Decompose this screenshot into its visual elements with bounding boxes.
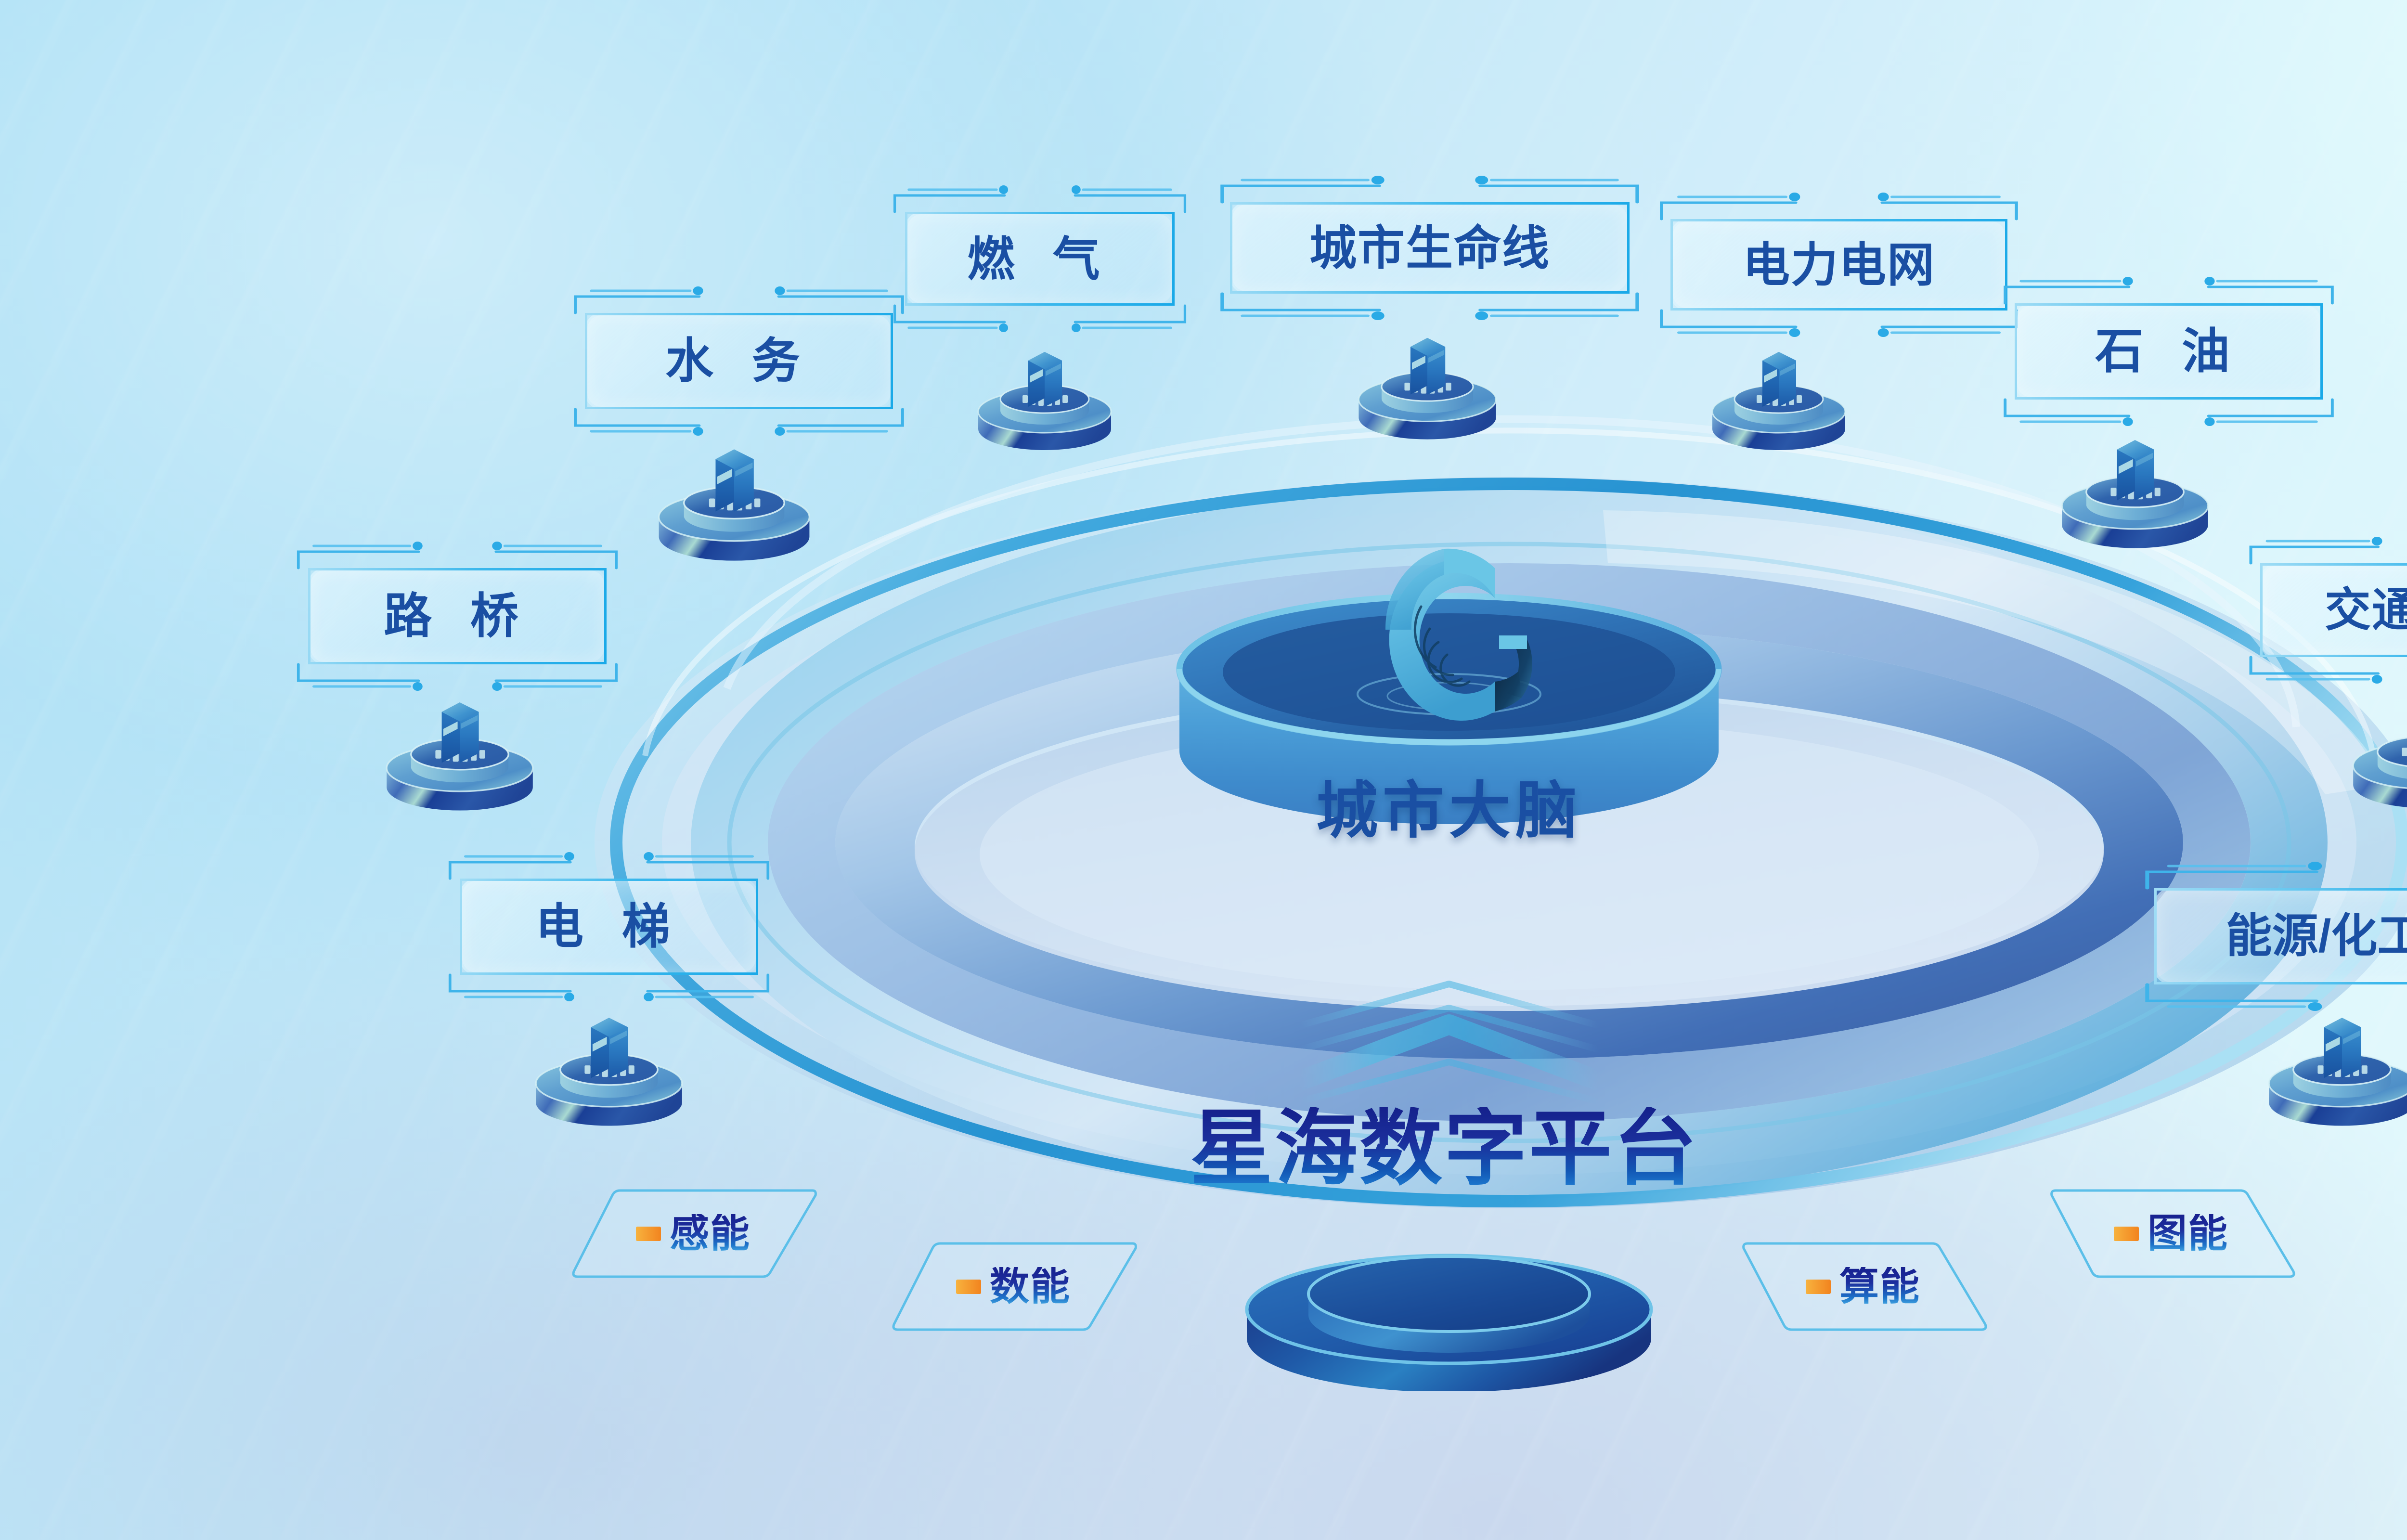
page-title: 星海数字平台 [1126, 1107, 1762, 1190]
pedestal-node-elevator [530, 1001, 688, 1134]
sector-label: 交通运输 [2325, 587, 2407, 634]
pedestal-node-lifeline [1353, 323, 1502, 447]
capability-label: 感能 [670, 1214, 751, 1254]
pedestal-node-bridge [380, 686, 539, 818]
chip-bracket-bottom [443, 972, 775, 1002]
orange-dash-marker [2114, 1227, 2139, 1241]
sector-chip-elevator[interactable]: 电 梯 [460, 879, 758, 975]
chip-bracket-bottom [1654, 308, 2024, 337]
orange-dash-marker [1806, 1280, 1831, 1294]
sector-label: 能源/化工集团 [2226, 913, 2407, 959]
pedestal-node-transport [2347, 684, 2407, 816]
capability-label: 数能 [990, 1267, 1071, 1307]
sector-chip-power[interactable]: 电力电网 [1670, 219, 2007, 311]
chip-bracket-top [889, 185, 1191, 215]
orange-dash-marker [636, 1227, 661, 1241]
capability-tag-sense[interactable]: 感能 [568, 1187, 818, 1281]
upward-chevron-arrows [1271, 977, 1627, 1107]
chip-bracket-top [2244, 536, 2407, 566]
sector-label: 电力电网 [1743, 241, 1935, 288]
sector-chip-gas[interactable]: 燃 气 [905, 212, 1175, 306]
chip-bracket-top [443, 852, 775, 881]
pedestal-node-oil [2056, 424, 2214, 556]
sector-chip-lifeline[interactable]: 城市生命线 [1230, 202, 1630, 294]
hub-title: 城市大脑 [1131, 761, 1767, 850]
sector-chip-energy-chemical[interactable]: 能源/化工集团 [2154, 888, 2407, 984]
infographic-canvas: 城市大脑 星海数字平台 [0, 0, 2407, 1540]
sector-label: 水 务 [665, 337, 813, 385]
chip-bracket-bottom [889, 303, 1191, 333]
chip-bracket-top [569, 286, 909, 316]
base-platform-disc [1237, 1237, 1661, 1391]
chip-bracket-top [1214, 175, 1646, 205]
chip-bracket-top [292, 541, 623, 571]
sector-label: 路 桥 [384, 592, 531, 640]
chip-bracket-bottom [2244, 654, 2407, 684]
chip-bracket-top [2138, 861, 2407, 891]
sector-label: 城市生命线 [1309, 224, 1550, 272]
chip-bracket-bottom [1214, 291, 1646, 321]
chip-bracket-bottom [569, 406, 909, 436]
chip-bracket-top [1654, 192, 2024, 222]
pedestal-node-power [1707, 337, 1851, 457]
sector-label: 燃 气 [967, 235, 1112, 283]
chip-bracket-bottom [1998, 397, 2339, 427]
city-brain-hub: 城市大脑 [1131, 525, 1767, 905]
orange-dash-marker [956, 1280, 981, 1294]
capability-label: 算能 [1839, 1267, 1920, 1307]
chip-bracket-top [1998, 276, 2339, 306]
pedestal-node-gas [972, 337, 1117, 457]
capability-tag-data[interactable]: 数能 [888, 1240, 1139, 1333]
sector-chip-bridge[interactable]: 路 桥 [308, 568, 607, 664]
capability-tag-graph[interactable]: 图能 [2046, 1187, 2296, 1281]
capability-tag-compute[interactable]: 算能 [1738, 1240, 1988, 1333]
sector-chip-oil[interactable]: 石 油 [2015, 303, 2323, 400]
sector-label: 电 梯 [535, 903, 683, 951]
sector-label: 石 油 [2095, 327, 2242, 375]
capability-label: 图能 [2148, 1214, 2228, 1254]
pedestal-node-water [652, 433, 816, 568]
pedestal-node-energy-chemical [2263, 1001, 2407, 1134]
sector-chip-transport[interactable]: 交通运输 [2260, 563, 2407, 657]
sector-chip-water[interactable]: 水 务 [585, 313, 893, 409]
